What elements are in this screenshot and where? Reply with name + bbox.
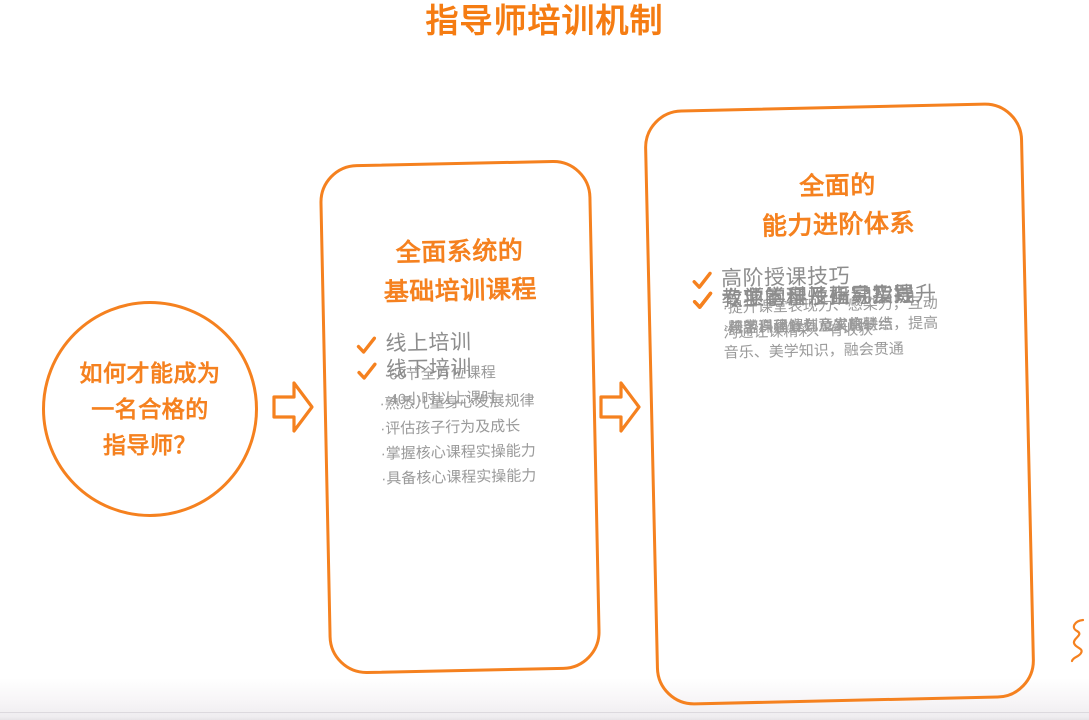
question-circle: 如何才能成为 一名合格的 指导师？	[42, 301, 258, 517]
check-icon	[356, 336, 376, 356]
basic-training-groups: 线上培训 ·60节全方位课程 ·40小时以上课时 线下培训	[356, 326, 596, 331]
arrow-right-icon	[598, 378, 642, 436]
question-circle-text: 如何才能成为 一名合格的 指导师？	[80, 355, 221, 463]
group-parent-child-guidance-head: 专业的亲子互动指导	[692, 281, 915, 314]
arrow-right-icon	[271, 378, 315, 436]
list-item: ·与客户建立有意义的联结	[723, 311, 916, 340]
group-offline-training: 线下培训 ·熟悉儿童身心发展规律 ·评估孩子行为及成长 ·掌握核心课程实操能力 …	[357, 353, 537, 492]
card-advanced-title: 全面的 能力进阶体系	[648, 163, 1029, 250]
arrow-2	[598, 378, 642, 441]
group-parent-child-guidance-items: ·与客户建立有意义的联结	[723, 311, 916, 340]
advanced-system-groups: 高阶授课技巧 ·提升课堂表现力、感染力，互动 沟通让课精彩、有收获 专项学科性研…	[692, 259, 1012, 266]
group-parent-child-guidance: 专业的亲子互动指导 ·与客户建立有意义的联结	[692, 281, 916, 341]
list-item: ·具备核心课程实操能力	[381, 463, 536, 491]
check-icon	[357, 362, 377, 382]
squiggle-ribbon-icon	[1067, 618, 1089, 664]
group-offline-training-label: 线下培训	[386, 355, 473, 385]
slide-canvas: 指导师培训机制 如何才能成为 一名合格的 指导师？ 全面系统的 基础培训课程	[0, 0, 1089, 720]
check-icon	[692, 291, 712, 311]
group-parent-child-guidance-label: 专业的亲子互动指导	[721, 281, 915, 313]
card-advanced-body: 全面的 能力进阶体系 高阶授课技巧 ·提升课堂表现力、感染力，互动 沟通让课精彩…	[646, 105, 1032, 703]
card-basic-title: 全面系统的 基础培训课程	[323, 230, 597, 314]
bottom-divider-line	[0, 712, 1089, 713]
card-basic-training: 全面系统的 基础培训课程 线上培训 ·60节全方位课程 ·40小时以上课时	[319, 159, 602, 675]
list-item: ·评估孩子行为及成长	[380, 413, 535, 441]
list-item: ·熟悉儿童身心发展规律	[379, 388, 534, 416]
card-basic-body: 全面系统的 基础培训课程 线上培训 ·60节全方位课程 ·40小时以上课时	[322, 162, 598, 671]
page-title: 指导师培训机制	[0, 0, 1089, 44]
group-offline-training-head: 线下培训	[357, 353, 535, 385]
list-item: ·掌握核心课程实操能力	[380, 438, 535, 466]
arrow-1	[271, 378, 315, 441]
squiggle-icon	[1067, 618, 1089, 669]
card-advanced-system: 全面的 能力进阶体系 高阶授课技巧 ·提升课堂表现力、感染力，互动 沟通让课精彩…	[643, 102, 1035, 706]
group-offline-training-items: ·熟悉儿童身心发展规律 ·评估孩子行为及成长 ·掌握核心课程实操能力 ·具备核心…	[379, 388, 536, 491]
